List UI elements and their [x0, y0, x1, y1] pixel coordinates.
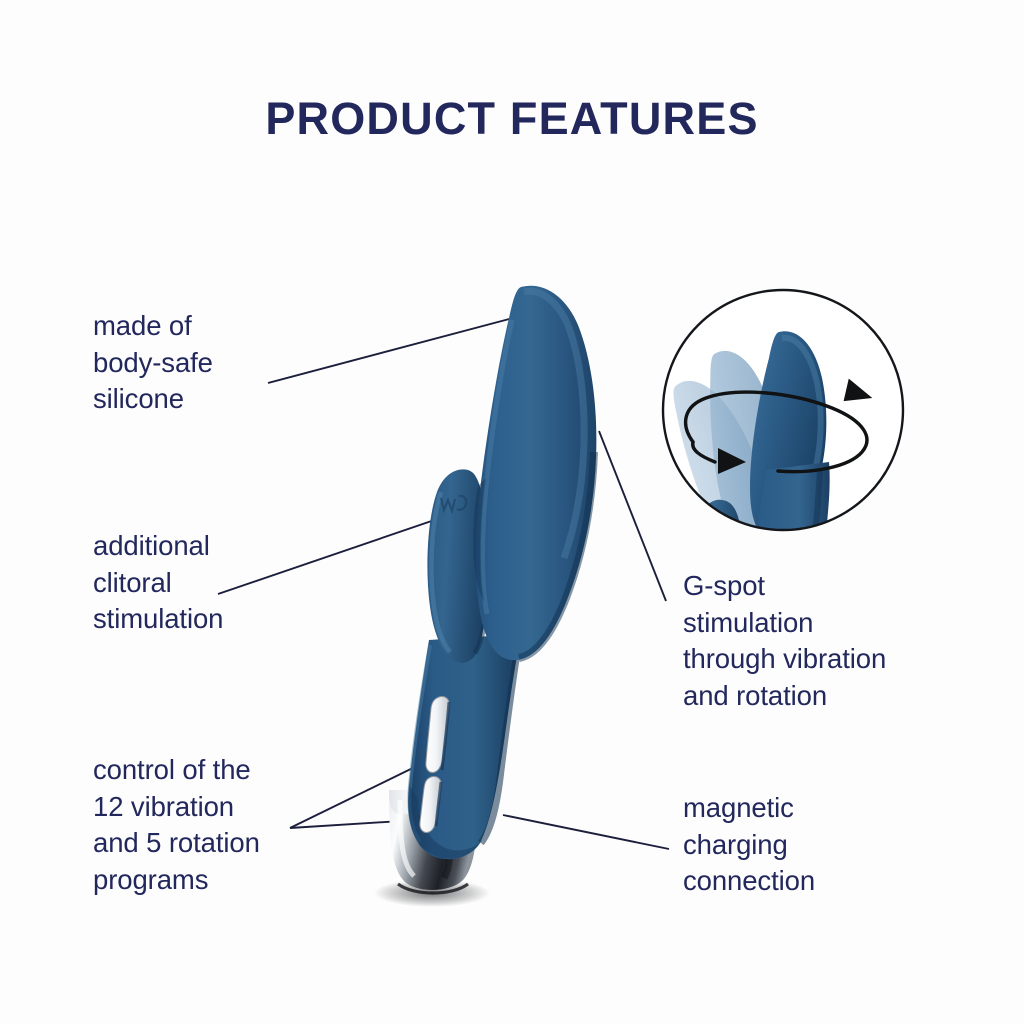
- callout-magnetic-charging-connection: magnetic charging connection: [683, 790, 815, 900]
- leader-line-clitoral: [218, 513, 455, 594]
- callout-additional-clitoral-stimulation: additional clitoral stimulation: [93, 528, 223, 638]
- product-features-infographic: PRODUCT FEATURES: [0, 0, 1024, 1024]
- callout-made-of-body-safe-silicone: made of body-safe silicone: [93, 308, 213, 418]
- leader-line-silicone: [268, 318, 513, 383]
- callout-control-of-programs: control of the 12 vibration and 5 rotati…: [93, 752, 260, 898]
- main-shaft: [473, 286, 596, 660]
- callout-g-spot-stimulation: G-spot stimulation through vibration and…: [683, 568, 886, 714]
- leader-line-magnetic: [503, 815, 669, 849]
- leader-line-gspot: [599, 431, 666, 601]
